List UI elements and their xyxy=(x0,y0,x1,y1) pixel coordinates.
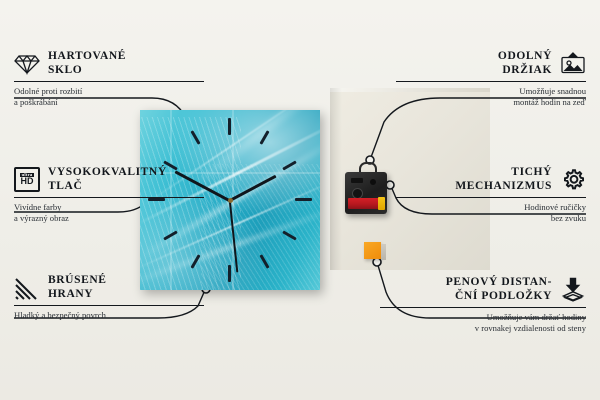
feature-title-line2: DRŽIAK xyxy=(502,64,552,76)
feature-title-line1: HARTOVANÉ xyxy=(48,50,126,62)
hd-label: HD xyxy=(21,177,34,186)
feature-desc-line2: bez zvuku xyxy=(551,213,586,223)
stacked-arrow-down-icon xyxy=(560,277,586,303)
feature-desc-line2: montáž hodin na zeď xyxy=(513,97,586,107)
foam-spacer-pad-side xyxy=(381,244,386,260)
clock-tick-6 xyxy=(228,265,231,282)
feature-head: PENOVÝ DISTAN- ČNÍ PODLOŽKY xyxy=(380,276,586,303)
feature-silent-mechanism: TICHÝ MECHANIZMUS Hodinové ručičky bez z… xyxy=(396,166,586,224)
feature-desc: Hladký a bezpečný povrch xyxy=(14,310,204,321)
node-mechanism xyxy=(386,181,394,189)
feature-polished-edges: BRÚSENÉ HRANY Hladký a bezpečný povrch xyxy=(14,274,204,321)
foam-spacer-pad xyxy=(364,242,381,259)
feature-title-line2: ČNÍ PODLOŽKY xyxy=(455,290,552,302)
feature-title-line1: ODOLNÝ xyxy=(498,50,552,62)
feature-desc-line1: Odolné proti rozbití xyxy=(14,86,82,96)
feature-head: HARTOVANÉ SKLO xyxy=(14,50,204,77)
feature-desc-line1: Umožňuje vám držať hodiny xyxy=(487,312,586,322)
clock-tick-3 xyxy=(295,198,312,201)
feature-title: BRÚSENÉ HRANY xyxy=(48,274,107,301)
feature-desc-line2: a poškrábání xyxy=(14,97,58,107)
feature-desc-line1: Hladký a bezpečný povrch xyxy=(14,310,106,320)
mechanism-battery-cap xyxy=(378,197,385,210)
feature-title-line2: SKLO xyxy=(48,64,82,76)
clock-tick-12 xyxy=(228,118,231,135)
feature-desc-line1: Umožňuje snadnou xyxy=(519,86,586,96)
feature-desc-line2: a výrazný obraz xyxy=(14,213,69,223)
diamond-icon xyxy=(14,51,40,77)
feature-title: TICHÝ MECHANIZMUS xyxy=(455,166,552,193)
feature-divider xyxy=(14,305,204,306)
feature-head: TICHÝ MECHANIZMUS xyxy=(396,166,586,193)
feature-divider xyxy=(380,307,586,308)
gear-icon xyxy=(560,167,586,193)
feature-desc-line1: Hodinové ručičky xyxy=(524,202,586,212)
feature-head: ODOLNÝ DRŽIAK xyxy=(396,50,586,77)
feature-divider xyxy=(14,81,204,82)
mechanism-screw xyxy=(370,179,376,185)
feature-title-line1: TICHÝ xyxy=(511,166,552,178)
feature-title: ODOLNÝ DRŽIAK xyxy=(498,50,552,77)
feature-divider xyxy=(396,81,586,82)
clock-center-pin xyxy=(228,198,233,203)
feature-foam-spacers: PENOVÝ DISTAN- ČNÍ PODLOŽKY Umožňuje vám… xyxy=(380,276,586,334)
feature-desc-line2: v rovnakej vzdialenosti od steny xyxy=(475,323,586,333)
feature-title: VYSOKOKVALITNÝ TLAČ xyxy=(48,166,167,193)
diagonal-lines-icon xyxy=(14,275,40,301)
feature-desc: Odolné proti rozbití a poškrábání xyxy=(14,86,204,108)
feature-high-quality-print: ultra HD VYSOKOKVALITNÝ TLAČ Vivídne far… xyxy=(14,166,204,224)
feature-head: ultra HD VYSOKOKVALITNÝ TLAČ xyxy=(14,166,204,193)
feature-desc-line1: Vivídne farby xyxy=(14,202,61,212)
feature-title-line2: TLAČ xyxy=(48,180,82,192)
feature-title-line2: MECHANIZMUS xyxy=(455,180,552,192)
feature-divider xyxy=(14,197,204,198)
feature-divider xyxy=(396,197,586,198)
picture-hanger-icon xyxy=(560,51,586,77)
feature-durable-holder: ODOLNÝ DRŽIAK Umožňuje snadnou montáž ho… xyxy=(396,50,586,108)
infographic-stage: HARTOVANÉ SKLO Odolné proti rozbití a po… xyxy=(0,0,600,400)
feature-head: BRÚSENÉ HRANY xyxy=(14,274,204,301)
feature-tempered-glass: HARTOVANÉ SKLO Odolné proti rozbití a po… xyxy=(14,50,204,108)
feature-title-line1: BRÚSENÉ xyxy=(48,274,107,286)
feature-desc: Umožňuje snadnou montáž hodin na zeď xyxy=(396,86,586,108)
ultra-hd-icon: ultra HD xyxy=(14,167,40,193)
feature-title: PENOVÝ DISTAN- ČNÍ PODLOŽKY xyxy=(446,276,552,303)
feature-title: HARTOVANÉ SKLO xyxy=(48,50,126,77)
feature-desc: Vivídne farby a výrazný obraz xyxy=(14,202,204,224)
feature-desc: Umožňuje vám držať hodiny v rovnakej vzd… xyxy=(380,312,586,334)
node-pads xyxy=(373,258,381,266)
feature-title-line1: PENOVÝ DISTAN- xyxy=(446,276,552,288)
feature-title-line2: HRANY xyxy=(48,288,93,300)
feature-desc: Hodinové ručičky bez zvuku xyxy=(396,202,586,224)
mechanism-slot xyxy=(351,178,363,183)
feature-title-line1: VYSOKOKVALITNÝ xyxy=(48,166,167,178)
